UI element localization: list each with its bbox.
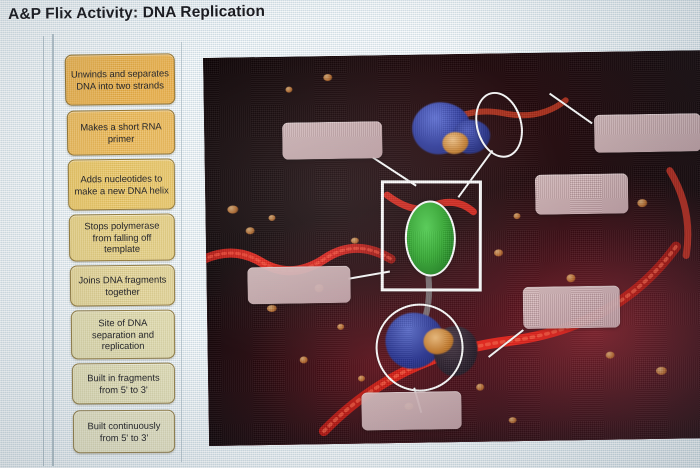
leader-line-right-lower (488, 329, 524, 358)
answer-chip-label: Adds nucleotides to make a new DNA helix (73, 173, 170, 197)
answer-chip-clamp[interactable]: Stops polymerase from falling off templa… (69, 213, 176, 261)
debris-speck (637, 199, 647, 207)
diagram-container (203, 50, 700, 448)
answer-bank: Unwinds and separates DNA into two stran… (0, 0, 200, 468)
debris-speck (656, 367, 667, 375)
debris-speck (509, 417, 517, 423)
drop-target-bottom[interactable] (361, 391, 462, 431)
debris-speck (494, 249, 503, 256)
answer-chip-label: Built in fragments from 5' to 3' (77, 372, 170, 396)
drop-target-right-lower[interactable] (523, 285, 621, 329)
debris-speck (566, 274, 575, 282)
debris-speck (300, 356, 308, 363)
debris-speck (227, 205, 238, 213)
answer-chip-leading[interactable]: Built continuously from 5' to 3' (73, 410, 175, 454)
debris-speck (268, 215, 275, 221)
answer-chip-ligase[interactable]: Joins DNA fragments together (70, 264, 175, 306)
debris-speck (246, 227, 255, 234)
drop-target-right-upper[interactable] (535, 173, 629, 214)
drop-target-top-right[interactable] (594, 113, 700, 153)
debris-speck (285, 87, 292, 93)
dna-replication-image (203, 50, 700, 446)
answer-chip-helicase[interactable]: Unwinds and separates DNA into two stran… (65, 53, 176, 106)
debris-speck (476, 384, 484, 391)
answer-chip-label: Site of DNA separation and replication (76, 317, 170, 352)
answer-chip-label: Stops polymerase from falling off templa… (74, 220, 170, 255)
drop-target-mid-left[interactable] (247, 266, 351, 305)
drop-target-top-left[interactable] (282, 121, 383, 160)
debris-speck (606, 352, 615, 359)
leader-line-top-right (549, 93, 593, 125)
debris-speck (358, 375, 365, 381)
answer-chip-label: Joins DNA fragments together (75, 274, 170, 298)
debris-speck (351, 238, 359, 244)
highlighted-structure-green (404, 200, 456, 277)
answer-chip-label: Makes a short RNA primer (72, 120, 170, 144)
answer-chip-label: Built continuously from 5' to 3' (78, 420, 170, 443)
answer-chip-label: Unwinds and separates DNA into two stran… (70, 67, 170, 91)
debris-speck (267, 305, 277, 312)
debris-speck (513, 213, 520, 219)
answer-chip-polymerase[interactable]: Adds nucleotides to make a new DNA helix (68, 158, 176, 210)
answer-chip-primase[interactable]: Makes a short RNA primer (67, 109, 176, 155)
answer-chip-lagging[interactable]: Built in fragments from 5' to 3' (72, 363, 175, 405)
callout-circle-bottom[interactable] (375, 303, 464, 392)
debris-speck (337, 324, 344, 330)
answer-chip-fork[interactable]: Site of DNA separation and replication (71, 310, 175, 360)
debris-speck (323, 74, 332, 81)
